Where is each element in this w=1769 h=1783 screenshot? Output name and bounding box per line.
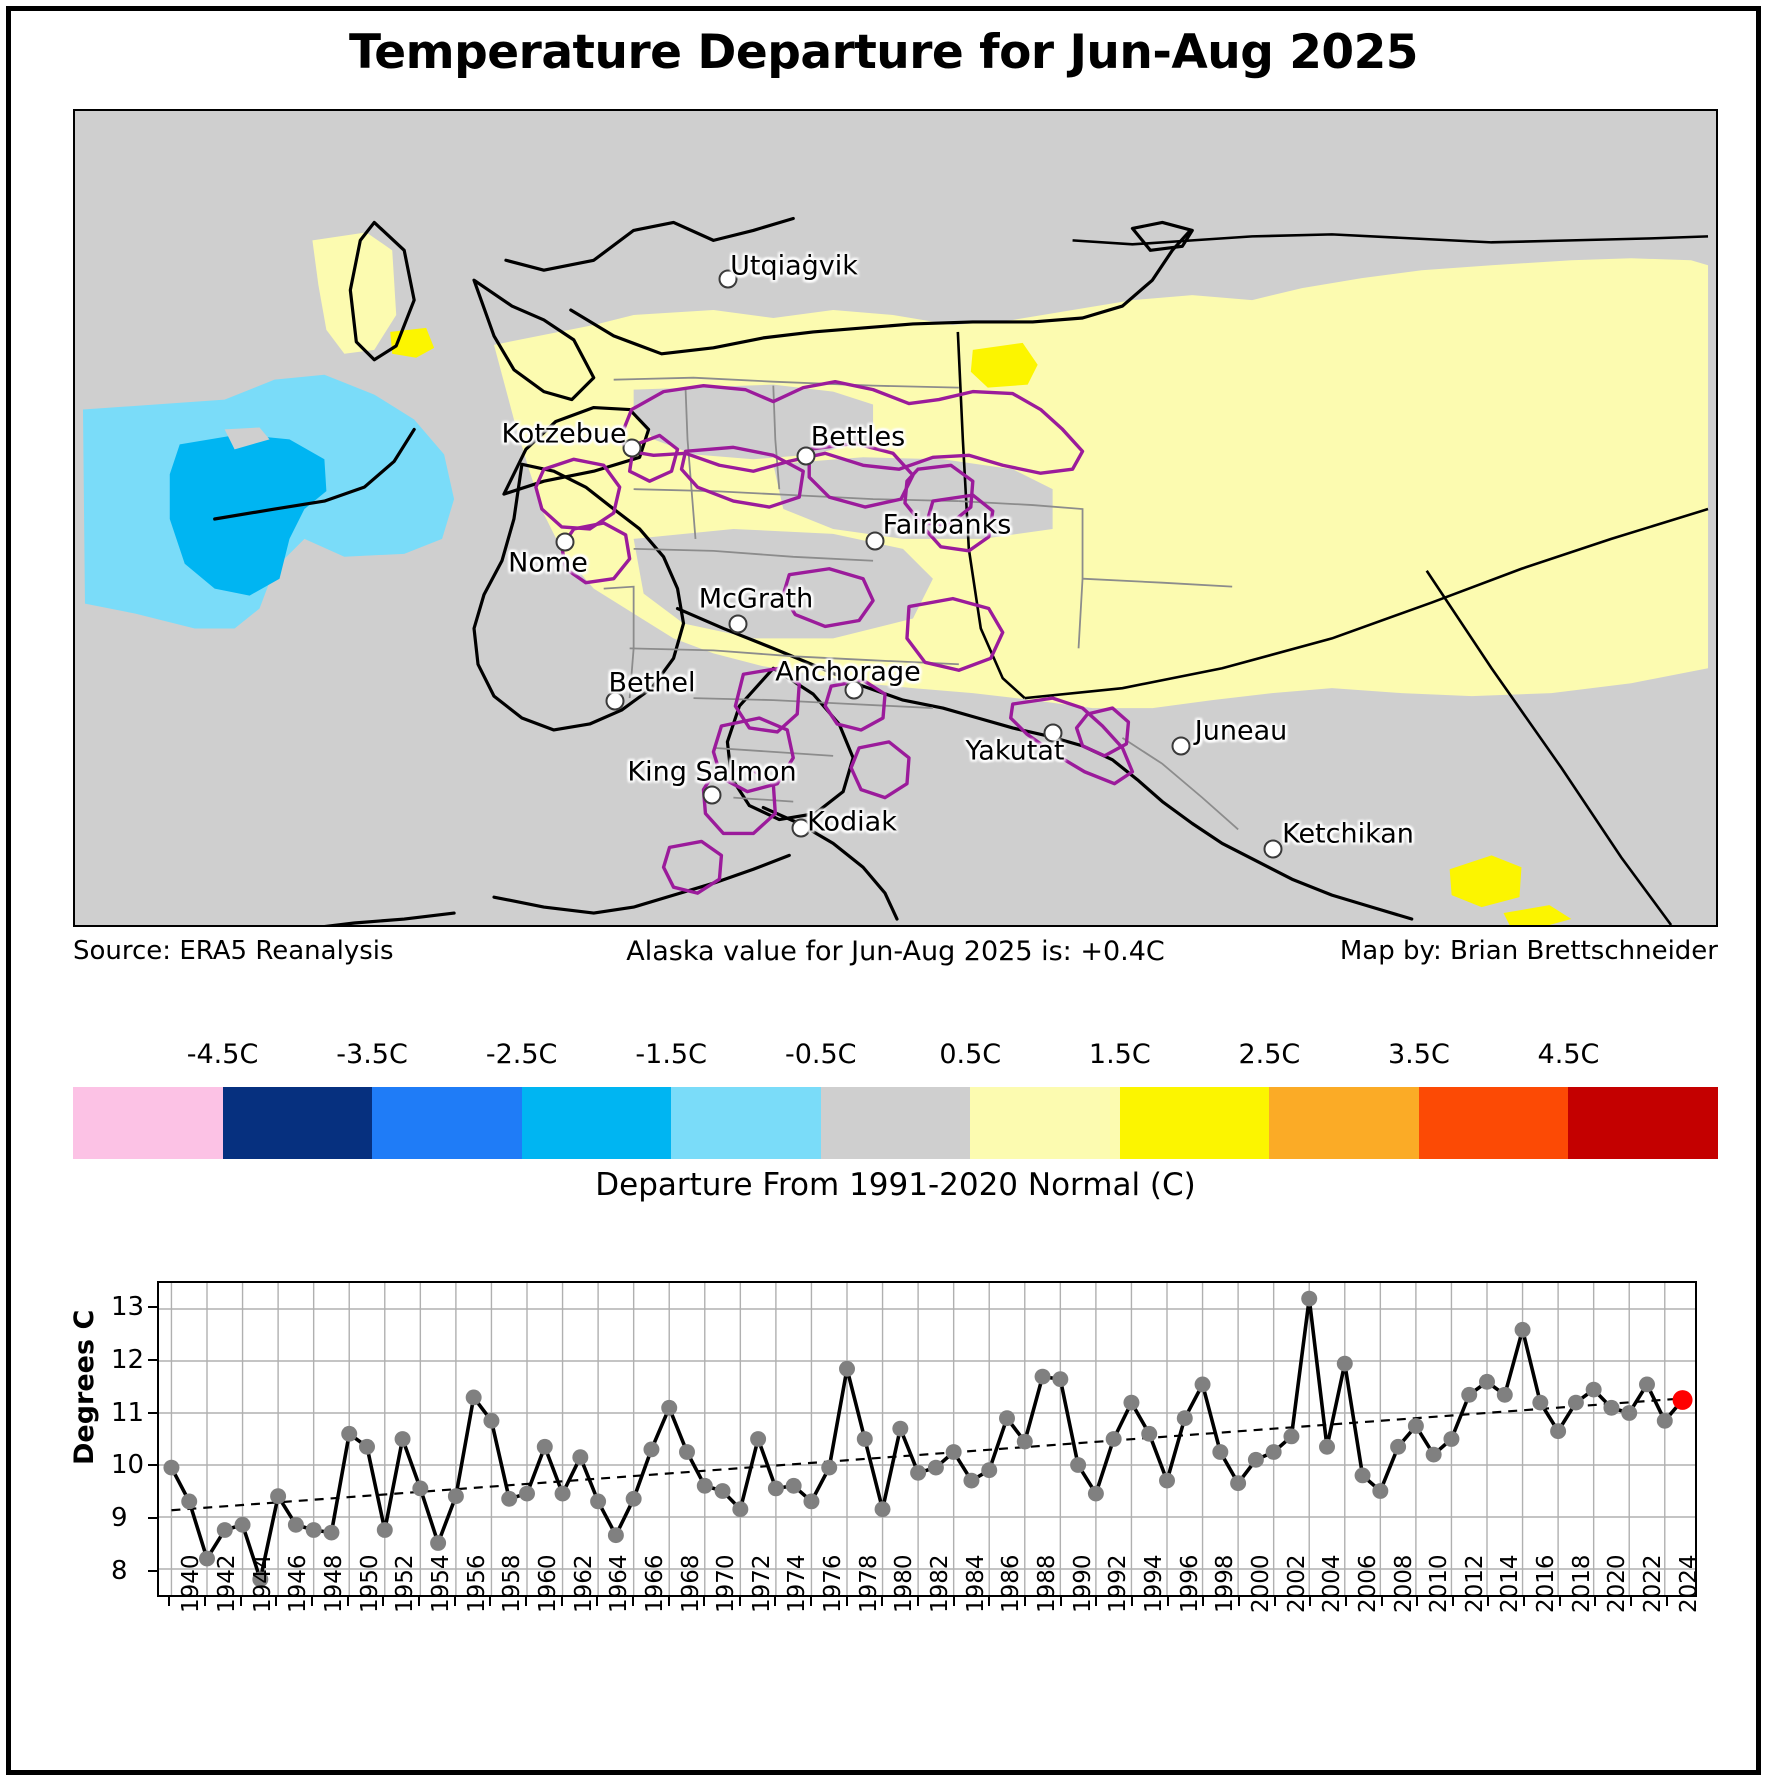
timeseries-xtick-mark (240, 1597, 242, 1606)
timeseries-xtick-mark (1238, 1597, 1240, 1606)
colorbar-caption: Departure From 1991-2020 Normal (C) (73, 1167, 1718, 1203)
timeseries-xtick-mark (846, 1597, 848, 1606)
timeseries-ytick-label: 10 (111, 1450, 144, 1480)
colorbar-swatch-2 (372, 1087, 522, 1159)
timeseries-point (466, 1390, 482, 1406)
timeseries-xtick-mark (204, 1597, 206, 1606)
timeseries-ytick-label: 12 (111, 1345, 144, 1375)
timeseries-point (323, 1525, 339, 1541)
colorbar-tick-4: -0.5C (785, 1039, 857, 1070)
timeseries-point (608, 1527, 624, 1543)
timeseries-point (857, 1431, 873, 1447)
timeseries-xtick-label: 2018 (1569, 1554, 1595, 1613)
timeseries-point (1248, 1452, 1264, 1468)
timeseries-xtick-label: 2004 (1319, 1554, 1345, 1613)
timeseries-xtick-mark (418, 1597, 420, 1606)
timeseries-point (1177, 1410, 1193, 1426)
timeseries-point (892, 1421, 908, 1437)
timeseries-point (910, 1465, 926, 1481)
timeseries-xtick-label: 2020 (1604, 1554, 1630, 1613)
city-label-king-salmon: King Salmon (627, 757, 796, 788)
timeseries-point (626, 1491, 642, 1507)
timeseries-xtick-mark (561, 1597, 563, 1606)
timeseries-point (1532, 1395, 1548, 1411)
timeseries-point (395, 1431, 411, 1447)
timeseries-xtick-label: 1960 (535, 1554, 561, 1613)
timeseries-xtick-mark (739, 1597, 741, 1606)
timeseries-xtick-mark (1666, 1597, 1668, 1606)
timeseries-xtick-mark (988, 1597, 990, 1606)
timeseries-point (377, 1522, 393, 1538)
timeseries-xtick-label: 2012 (1462, 1554, 1488, 1613)
timeseries-xtick-mark (1167, 1597, 1169, 1606)
timeseries-xtick-mark (168, 1597, 170, 1606)
timeseries-xtick-mark (1381, 1597, 1383, 1606)
timeseries-ytick-mark (148, 1306, 157, 1308)
timeseries-xtick-label: 1956 (464, 1554, 490, 1613)
colorbar-swatch-9 (1419, 1087, 1569, 1159)
timeseries-xtick-mark (311, 1597, 313, 1606)
timeseries-point (1497, 1387, 1513, 1403)
timeseries-point (1355, 1468, 1371, 1484)
city-dot-icon (1264, 840, 1283, 859)
timeseries-xtick-label: 1992 (1105, 1554, 1131, 1613)
timeseries-point (1443, 1431, 1459, 1447)
timeseries-point (715, 1483, 731, 1499)
timeseries-point (1266, 1444, 1282, 1460)
timeseries-point (1088, 1486, 1104, 1502)
map-caption-row: Source: ERA5 Reanalysis Alaska value for… (73, 936, 1718, 982)
timeseries-y-axis-label: Degrees C (69, 1310, 100, 1465)
poster-frame: Temperature Departure for Jun-Aug 2025 (6, 6, 1761, 1775)
colorbar-tick-labels: -4.5C-3.5C-2.5C-1.5C-0.5C0.5C1.5C2.5C3.5… (73, 1039, 1718, 1085)
timeseries-xtick-label: 1952 (392, 1554, 418, 1613)
city-label-yakutat: Yakutat (966, 736, 1065, 767)
timeseries-point (839, 1361, 855, 1377)
timeseries-xtick-label: 1988 (1034, 1554, 1060, 1613)
timeseries-xtick-mark (1060, 1597, 1062, 1606)
timeseries-point (1372, 1483, 1388, 1499)
timeseries-point (946, 1444, 962, 1460)
timeseries-point (1283, 1429, 1299, 1445)
timeseries-point (786, 1478, 802, 1494)
timeseries-xtick-label: 1962 (571, 1554, 597, 1613)
city-marker-fairbanks[interactable] (866, 532, 885, 551)
timeseries-point (1426, 1447, 1442, 1463)
timeseries-xtick-mark (1095, 1597, 1097, 1606)
colorbar-tick-3: -1.5C (635, 1039, 707, 1070)
timeseries-xtick-mark (489, 1597, 491, 1606)
timeseries-point (1568, 1395, 1584, 1411)
timeseries-point (163, 1460, 179, 1476)
timeseries-point (1070, 1457, 1086, 1473)
timeseries-xtick-mark (596, 1597, 598, 1606)
timeseries-point (1319, 1439, 1335, 1455)
timeseries-plot-area[interactable] (157, 1281, 1697, 1597)
timeseries-point (181, 1494, 197, 1510)
timeseries-point (1515, 1322, 1531, 1338)
timeseries-ytick-mark (148, 1464, 157, 1466)
timeseries-point (875, 1501, 891, 1517)
city-dot-icon (703, 786, 722, 805)
timeseries-xtick-mark (1559, 1597, 1561, 1606)
timeseries-ytick-label: 9 (111, 1503, 128, 1533)
timeseries-ytick-label: 11 (111, 1398, 144, 1428)
timeseries-xtick-mark (347, 1597, 349, 1606)
timeseries-xtick-label: 1974 (784, 1554, 810, 1613)
timeseries-xtick-mark (1487, 1597, 1489, 1606)
timeseries-xtick-mark (917, 1597, 919, 1606)
timeseries-graphic (159, 1283, 1695, 1595)
timeseries-point (1159, 1473, 1175, 1489)
timeseries-xtick-mark (382, 1597, 384, 1606)
city-label-kotzebue: Kotzebue (501, 419, 626, 450)
timeseries-point (359, 1439, 375, 1455)
timeseries-xtick-mark (810, 1597, 812, 1606)
timeseries-xtick-label: 2022 (1640, 1554, 1666, 1613)
timeseries-xtick-mark (1594, 1597, 1596, 1606)
colorbar-tick-9: 4.5C (1538, 1039, 1600, 1070)
timeseries-xtick-mark (275, 1597, 277, 1606)
colorbar-swatch-4 (671, 1087, 821, 1159)
timeseries-point (661, 1400, 677, 1416)
timeseries-point (217, 1522, 233, 1538)
timeseries-xtick-label: 2016 (1533, 1554, 1559, 1613)
timeseries-xtick-label: 1942 (214, 1554, 240, 1613)
timeseries-xtick-mark (1630, 1597, 1632, 1606)
timeseries-xtick-label: 1970 (713, 1554, 739, 1613)
timeseries-xtick-label: 1980 (891, 1554, 917, 1613)
city-marker-king-salmon[interactable] (703, 786, 722, 805)
colorbar-swatch-0 (73, 1087, 223, 1159)
map-credit-text: Map by: Brian Brettschneider (1340, 936, 1718, 966)
colorbar-tick-8: 3.5C (1388, 1039, 1450, 1070)
city-label-bethel: Bethel (609, 668, 696, 699)
colorbar-swatch-5 (821, 1087, 971, 1159)
timeseries-xtick-mark (1274, 1597, 1276, 1606)
timeseries-xtick-label: 1946 (285, 1554, 311, 1613)
colorbar-tick-2: -2.5C (486, 1039, 558, 1070)
timeseries-point (288, 1517, 304, 1533)
timeseries-point (590, 1494, 606, 1510)
timeseries-xtick-label: 2024 (1676, 1554, 1702, 1613)
city-marker-ketchikan[interactable] (1264, 840, 1283, 859)
city-label-kodiak: Kodiak (807, 807, 897, 838)
timeseries-point (483, 1413, 499, 1429)
timeseries-xtick-label: 1954 (428, 1554, 454, 1613)
timeseries-ytick-label: 13 (111, 1292, 144, 1322)
temperature-departure-map[interactable]: Utqiaġvik Kotzebue Bettles Nome Fairbank… (73, 109, 1718, 927)
timeseries-xtick-mark (1416, 1597, 1418, 1606)
timeseries-point (679, 1444, 695, 1460)
timeseries-xtick-mark (1452, 1597, 1454, 1606)
timeseries-xtick-mark (703, 1597, 705, 1606)
timeseries-xtick-mark (953, 1597, 955, 1606)
colorbar-swatch-8 (1269, 1087, 1419, 1159)
timeseries-point (803, 1494, 819, 1510)
timeseries-xtick-label: 1968 (678, 1554, 704, 1613)
city-marker-mcgrath[interactable] (729, 615, 748, 634)
timeseries-point (928, 1460, 944, 1476)
timeseries-xtick-label: 2002 (1284, 1554, 1310, 1613)
timeseries-xtick-label: 2010 (1426, 1554, 1452, 1613)
timeseries-xtick-mark (881, 1597, 883, 1606)
timeseries-point (1479, 1374, 1495, 1390)
timeseries-point (537, 1439, 553, 1455)
timeseries-point (1017, 1434, 1033, 1450)
timeseries-xtick-label: 1990 (1070, 1554, 1096, 1613)
timeseries-xtick-label: 2000 (1248, 1554, 1274, 1613)
timeseries-point (768, 1481, 784, 1497)
timeseries-xtick-mark (668, 1597, 670, 1606)
city-label-bettles: Bettles (811, 422, 906, 453)
timeseries-point (821, 1460, 837, 1476)
colorbar-swatch-7 (1120, 1087, 1270, 1159)
timeseries-highlight-point (1673, 1390, 1693, 1410)
timeseries-point (341, 1426, 357, 1442)
colorbar-tick-5: 0.5C (939, 1039, 1001, 1070)
timeseries-point (1461, 1387, 1477, 1403)
colorbar-swatch-10 (1568, 1087, 1718, 1159)
timeseries-panel[interactable]: Degrees C 891011121319401942194419461948… (73, 1269, 1718, 1759)
city-dot-icon (1172, 737, 1191, 756)
timeseries-point (1123, 1395, 1139, 1411)
timeseries-xtick-mark (1345, 1597, 1347, 1606)
timeseries-xtick-mark (632, 1597, 634, 1606)
timeseries-xtick-mark (1024, 1597, 1026, 1606)
timeseries-point (1550, 1423, 1566, 1439)
city-dot-icon (729, 615, 748, 634)
colorbar-legend: -4.5C-3.5C-2.5C-1.5C-0.5C0.5C1.5C2.5C3.5… (73, 1039, 1718, 1219)
city-dot-icon (866, 532, 885, 551)
timeseries-point (1141, 1426, 1157, 1442)
timeseries-xtick-mark (525, 1597, 527, 1606)
timeseries-xtick-label: 1998 (1212, 1554, 1238, 1613)
page-title: Temperature Departure for Jun-Aug 2025 (11, 25, 1756, 80)
timeseries-xtick-label: 1972 (749, 1554, 775, 1613)
timeseries-point (1657, 1413, 1673, 1429)
colorbar-swatch-6 (970, 1087, 1120, 1159)
timeseries-xtick-label: 1944 (250, 1554, 276, 1613)
colorbar-swatch-3 (522, 1087, 672, 1159)
timeseries-point (963, 1473, 979, 1489)
city-label-mcgrath: McGrath (699, 584, 813, 615)
city-marker-juneau[interactable] (1172, 737, 1191, 756)
timeseries-xtick-label: 2008 (1391, 1554, 1417, 1613)
timeseries-ytick-mark (148, 1359, 157, 1361)
timeseries-point (235, 1517, 251, 1533)
colorbar-tick-7: 2.5C (1238, 1039, 1300, 1070)
timeseries-point (555, 1486, 571, 1502)
timeseries-point (1301, 1291, 1317, 1307)
timeseries-xtick-label: 1994 (1141, 1554, 1167, 1613)
timeseries-xtick-label: 1978 (856, 1554, 882, 1613)
timeseries-point (448, 1488, 464, 1504)
timeseries-xtick-label: 1964 (606, 1554, 632, 1613)
timeseries-xtick-label: 1966 (642, 1554, 668, 1613)
timeseries-point (306, 1522, 322, 1538)
city-label-nome: Nome (508, 548, 588, 579)
timeseries-point (270, 1488, 286, 1504)
timeseries-xtick-mark (774, 1597, 776, 1606)
timeseries-point (1106, 1431, 1122, 1447)
timeseries-xtick-mark (1131, 1597, 1133, 1606)
city-label-juneau: Juneau (1195, 716, 1287, 747)
timeseries-xtick-label: 1982 (927, 1554, 953, 1613)
timeseries-point (697, 1478, 713, 1494)
timeseries-xtick-label: 1940 (178, 1554, 204, 1613)
timeseries-xtick-label: 1976 (820, 1554, 846, 1613)
city-label-ketchikan: Ketchikan (1282, 819, 1414, 850)
colorbar-swatches (73, 1087, 1718, 1159)
timeseries-point (999, 1410, 1015, 1426)
timeseries-point (732, 1501, 748, 1517)
colorbar-swatch-1 (223, 1087, 373, 1159)
timeseries-xtick-label: 1948 (321, 1554, 347, 1613)
timeseries-point (519, 1486, 535, 1502)
timeseries-point (1586, 1382, 1602, 1398)
timeseries-xtick-label: 1986 (998, 1554, 1024, 1613)
timeseries-point (1639, 1377, 1655, 1393)
timeseries-point (1408, 1418, 1424, 1434)
timeseries-point (1337, 1356, 1353, 1372)
timeseries-point (1230, 1475, 1246, 1491)
timeseries-ytick-mark (148, 1412, 157, 1414)
timeseries-point (1603, 1400, 1619, 1416)
timeseries-point (1390, 1439, 1406, 1455)
timeseries-point (1052, 1371, 1068, 1387)
timeseries-xtick-mark (1523, 1597, 1525, 1606)
timeseries-point (501, 1491, 517, 1507)
timeseries-xtick-label: 1950 (357, 1554, 383, 1613)
timeseries-xtick-label: 2006 (1355, 1554, 1381, 1613)
timeseries-point (430, 1535, 446, 1551)
timeseries-point (1621, 1405, 1637, 1421)
timeseries-ytick-mark (148, 1570, 157, 1572)
timeseries-xtick-label: 2014 (1497, 1554, 1523, 1613)
timeseries-point (1035, 1369, 1051, 1385)
timeseries-point (412, 1481, 428, 1497)
timeseries-point (1195, 1377, 1211, 1393)
city-label-utqiagvik: Utqiaġvik (730, 251, 858, 282)
timeseries-point (750, 1431, 766, 1447)
timeseries-point (643, 1442, 659, 1458)
timeseries-xtick-mark (1202, 1597, 1204, 1606)
timeseries-point (1212, 1444, 1228, 1460)
timeseries-ytick-label: 8 (111, 1556, 128, 1586)
timeseries-point (981, 1462, 997, 1478)
timeseries-xtick-label: 1984 (963, 1554, 989, 1613)
timeseries-ytick-mark (148, 1517, 157, 1519)
city-label-anchorage: Anchorage (775, 657, 920, 688)
colorbar-tick-1: -3.5C (336, 1039, 408, 1070)
timeseries-xtick-mark (1309, 1597, 1311, 1606)
timeseries-xtick-label: 1996 (1177, 1554, 1203, 1613)
city-label-fairbanks: Fairbanks (883, 510, 1012, 541)
colorbar-tick-6: 1.5C (1089, 1039, 1151, 1070)
timeseries-xtick-label: 1958 (499, 1554, 525, 1613)
timeseries-xtick-mark (454, 1597, 456, 1606)
timeseries-point (572, 1449, 588, 1465)
colorbar-tick-0: -4.5C (187, 1039, 259, 1070)
